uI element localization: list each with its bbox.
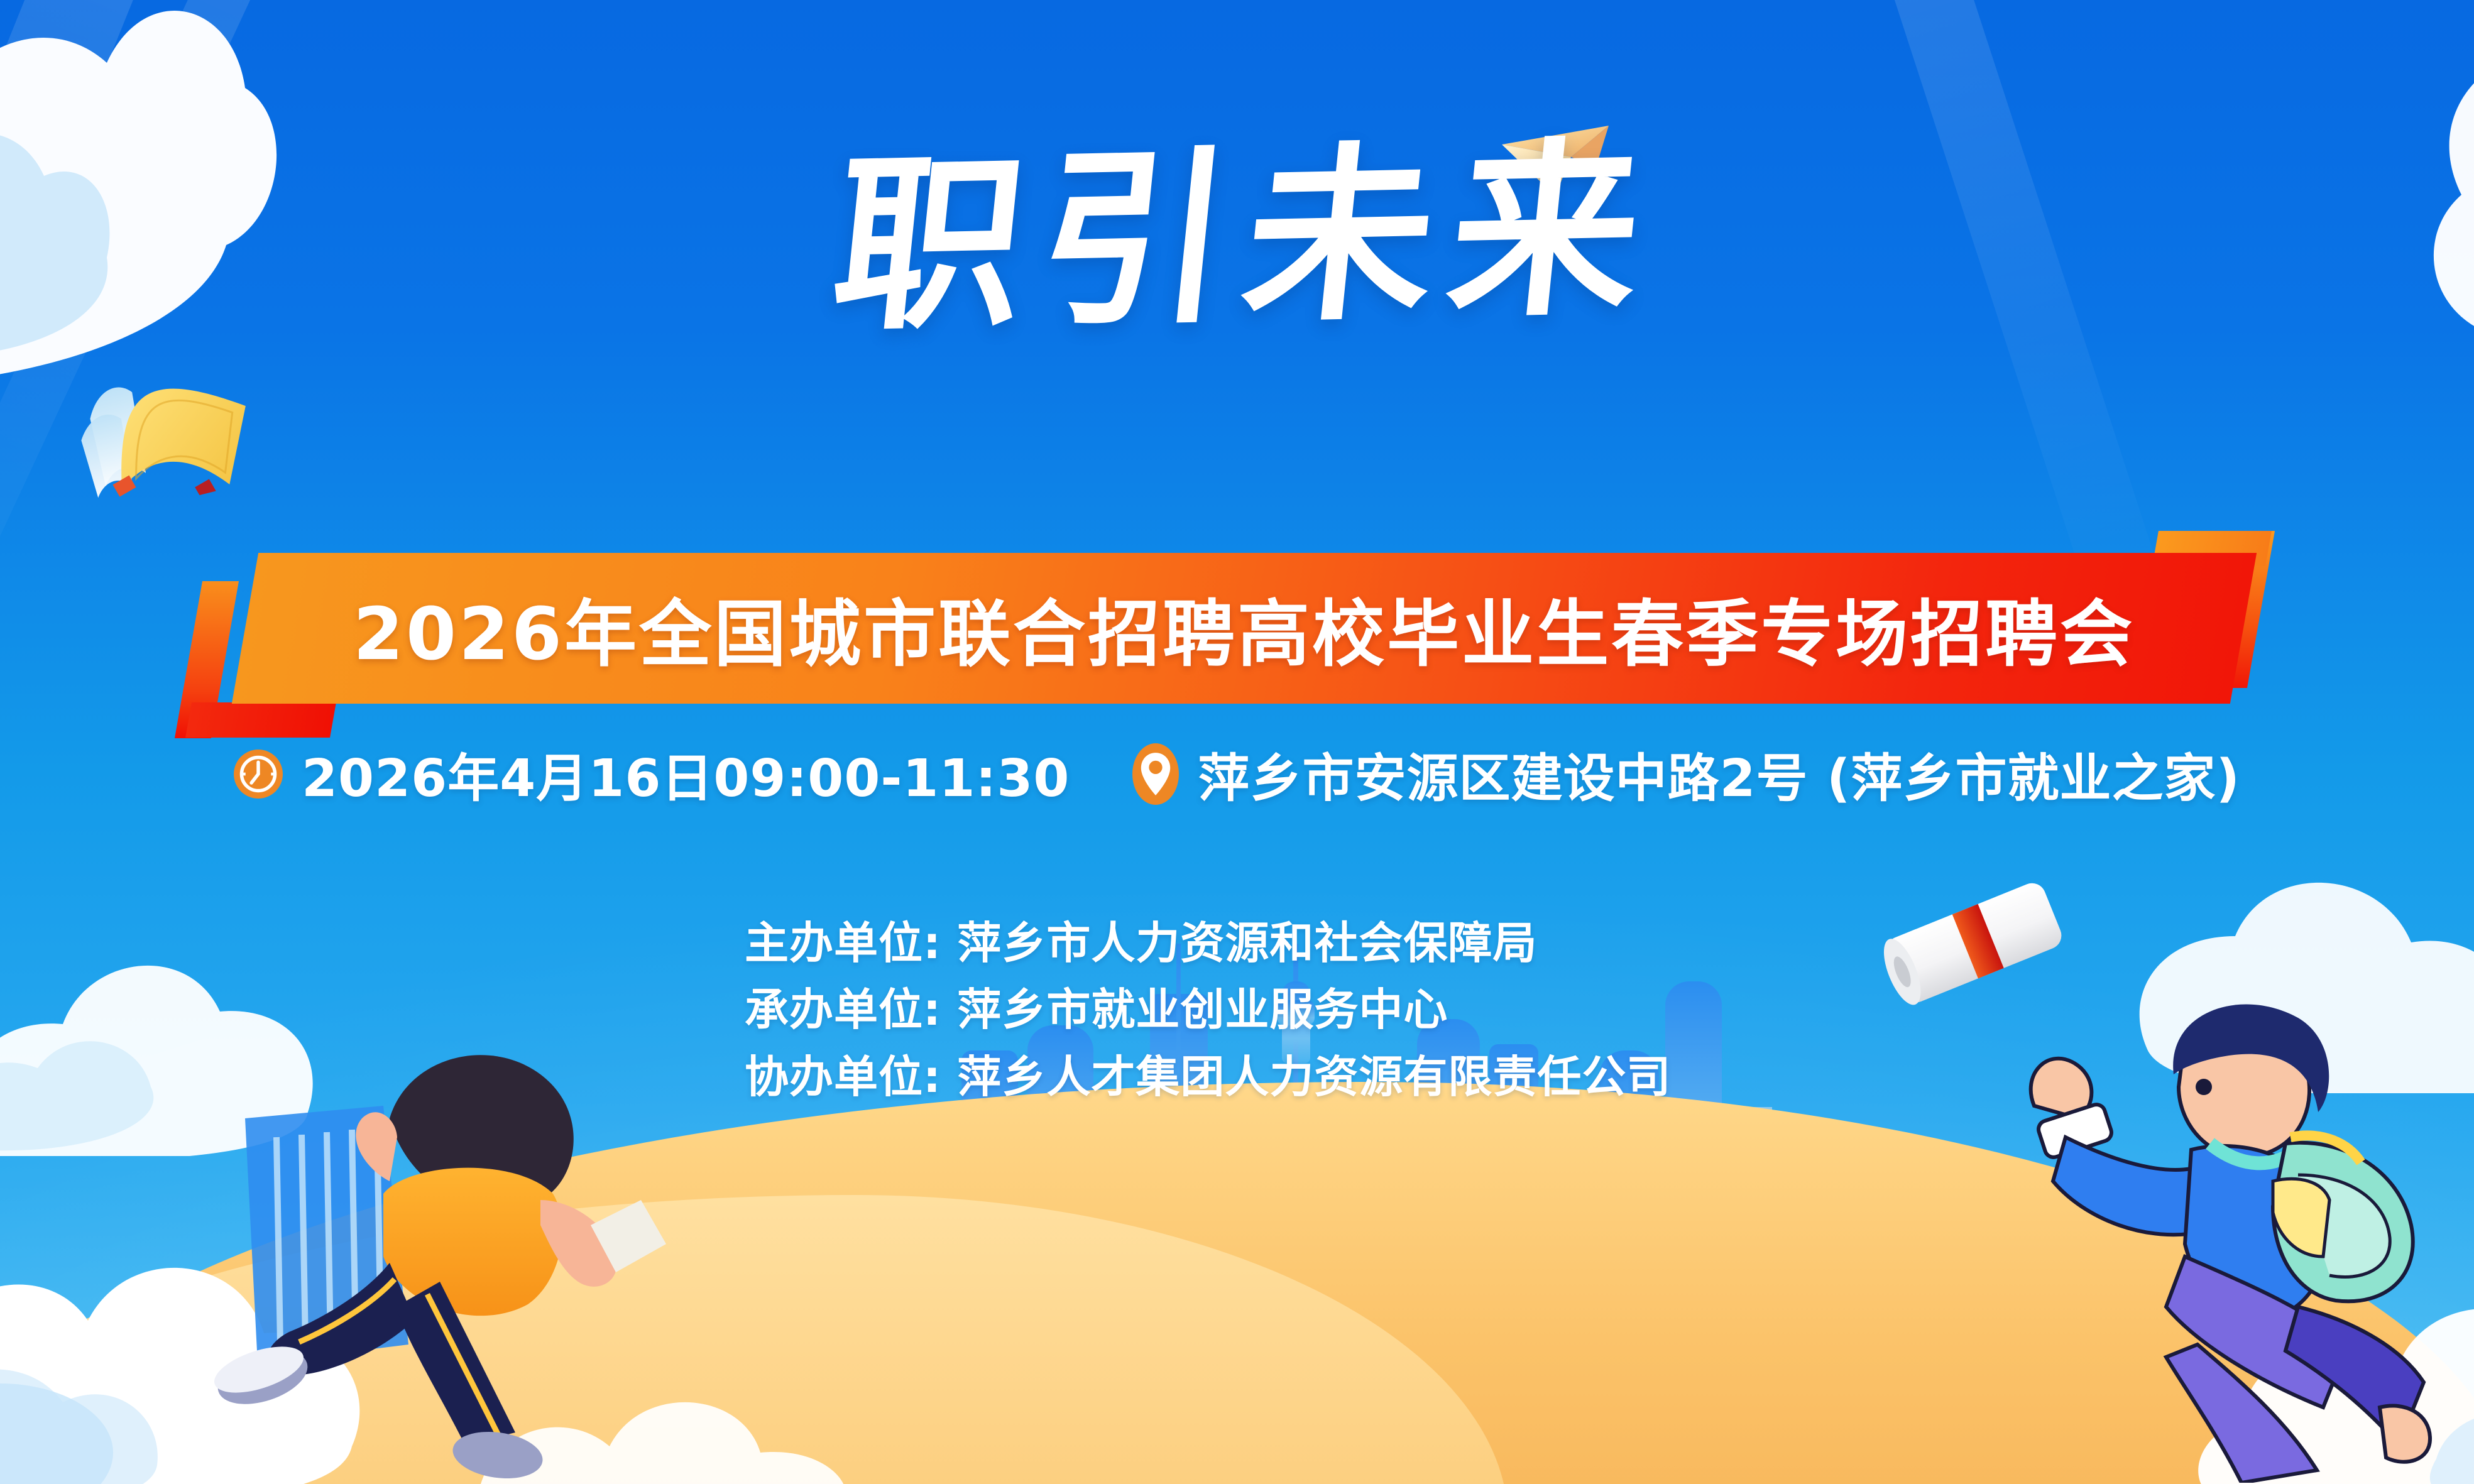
clock-icon	[234, 750, 283, 799]
student-with-backpack-illustration	[1946, 905, 2436, 1483]
banner-accent-left-foot	[185, 702, 336, 738]
event-datetime: 2026年4月16日09:00-11:30	[302, 736, 1070, 811]
organizer-list: 主办单位: 萍乡市人力资源和社会保障局 承办单位: 萍乡市就业创业服务中心 协办…	[745, 910, 1671, 1110]
banner-title: 2026年全国城市联合招聘高校毕业生春季专场招聘会	[353, 576, 2135, 680]
event-location: 萍乡市安源区建设中路2号 (萍乡市就业之家)	[1198, 736, 2240, 811]
running-person-illustration	[113, 930, 679, 1483]
subtitle-banner: 2026年全国城市联合招聘高校毕业生春季专场招聘会	[232, 553, 2257, 704]
title-container: 职引未来	[0, 145, 2474, 333]
location-pin-icon	[1132, 743, 1179, 805]
main-title: 职引未来	[809, 136, 1666, 342]
organizer-line: 承办单位: 萍乡市就业创业服务中心	[745, 976, 1671, 1043]
event-meta-row: 2026年4月16日09:00-11:30 萍乡市安源区建设中路2号 (萍乡市就…	[0, 736, 2474, 811]
promo-poster: 职引未来 2026年全国城市联合招聘高校毕业生春季专场招聘会 2026年4月16…	[0, 0, 2474, 1484]
organizer-line: 协办单位: 萍乡人才集团人力资源有限责任公司	[745, 1044, 1671, 1110]
organizer-line: 主办单位: 萍乡市人力资源和社会保障局	[745, 910, 1671, 976]
